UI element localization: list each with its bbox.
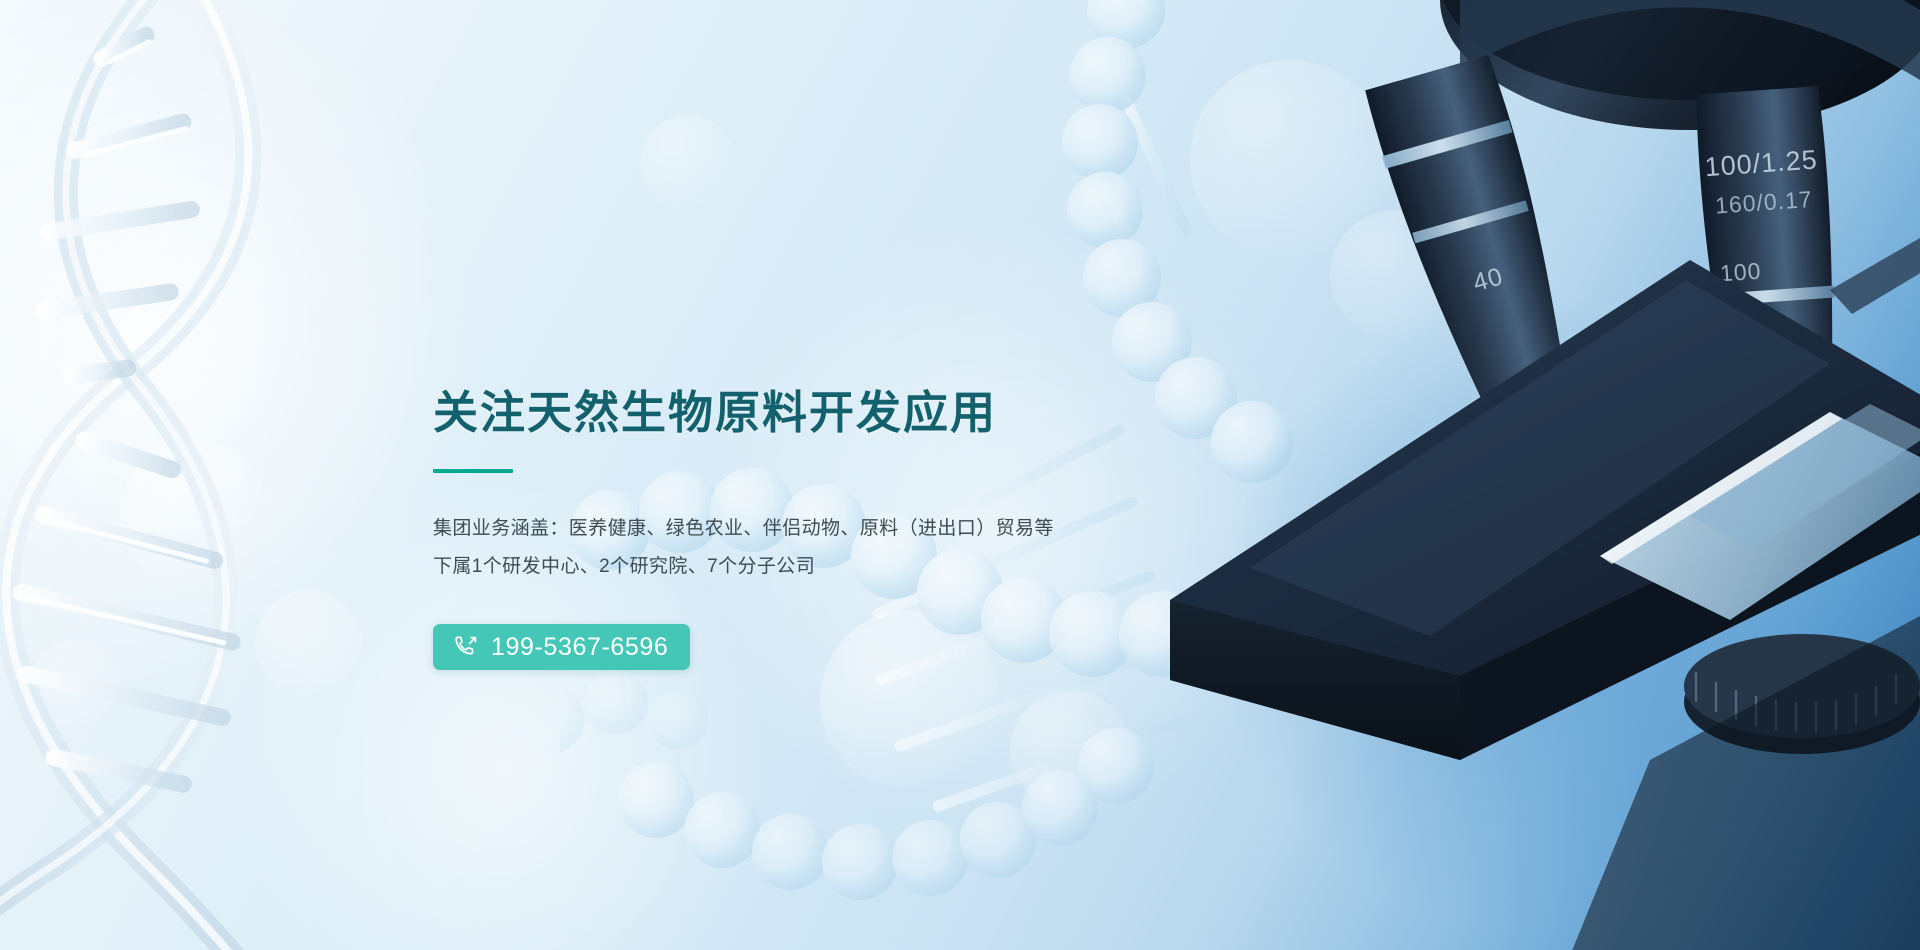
phone-outgoing-icon bbox=[453, 634, 479, 660]
svg-text:160/0.17: 160/0.17 bbox=[1714, 186, 1813, 219]
bokeh-circle bbox=[30, 640, 120, 730]
svg-text:100/1.25: 100/1.25 bbox=[1704, 144, 1819, 182]
bokeh-circle bbox=[120, 440, 270, 590]
bokeh-circle bbox=[1190, 60, 1390, 260]
svg-text:40: 40 bbox=[1470, 262, 1506, 297]
phone-cta-button[interactable]: 199-5367-6596 bbox=[433, 624, 690, 670]
description-line-2: 下属1个研发中心、2个研究院、7个分子公司 bbox=[433, 548, 1293, 586]
hero-banner: 40 100/1.25 160/0.17 100 bbox=[0, 0, 1920, 950]
bokeh-circle bbox=[1395, 95, 1480, 180]
hero-content: 关注天然生物原料开发应用 集团业务涵盖：医养健康、绿色农业、伴侣动物、原料（进出… bbox=[433, 388, 1293, 670]
page-title: 关注天然生物原料开发应用 bbox=[433, 388, 1293, 438]
bokeh-circle bbox=[1010, 690, 1130, 810]
title-divider bbox=[433, 469, 513, 473]
hero-description: 集团业务涵盖：医养健康、绿色农业、伴侣动物、原料（进出口）贸易等 下属1个研发中… bbox=[433, 510, 1293, 586]
bokeh-circle bbox=[255, 590, 363, 698]
svg-text:100: 100 bbox=[1719, 258, 1762, 287]
phone-number-label: 199-5367-6596 bbox=[491, 635, 668, 660]
description-line-1: 集团业务涵盖：医养健康、绿色农业、伴侣动物、原料（进出口）贸易等 bbox=[433, 510, 1293, 548]
bokeh-circle bbox=[640, 115, 735, 210]
bokeh-circle bbox=[1330, 210, 1460, 340]
